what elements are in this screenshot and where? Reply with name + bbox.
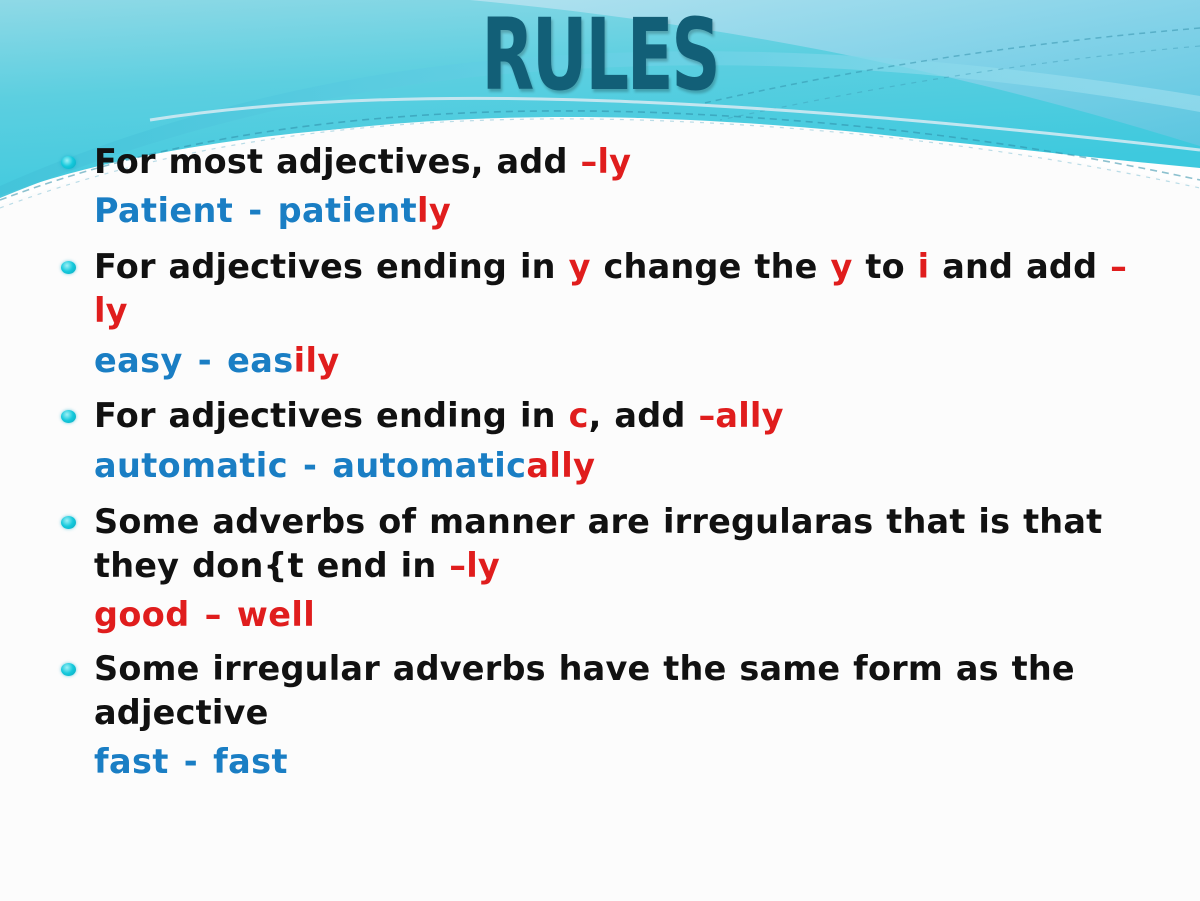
example-segment: good – well [94,595,315,634]
rule-text-segment: Some irregular adverbs have the same for… [94,649,1075,732]
bullet-icon [61,261,76,274]
page-title: RULES [482,6,719,105]
rule-text-segment: For most adjectives, add [94,142,581,181]
rule-text-segment-highlight: –ly [449,546,500,585]
rule-item-irregular-adverbs: Some adverbs of manner are irregularas t… [52,500,1157,639]
example-segment-highlight: ily [294,341,340,380]
rule-text-segment-highlight: i [918,247,930,286]
rule-main-text: For adjectives ending in y change the y … [52,245,1157,333]
rule-example-text: automatic - automatically [52,443,1157,490]
bullet-icon [61,516,76,529]
rule-example-text: good – well [52,592,1157,639]
bullet-icon [61,156,76,169]
rule-text-segment: , add [589,396,699,435]
example-segment-highlight: ally [526,446,595,485]
example-segment: automatic - automatic [94,446,526,485]
slide-canvas: RULES For most adjectives, add –ly Patie… [0,0,1200,901]
rule-text-segment-highlight: c [569,396,589,435]
rule-text-segment: For adjectives ending in [94,247,569,286]
example-segment: Patient - patient [94,191,417,230]
rule-example-text: Patient - patiently [52,188,1157,235]
rule-example-text: easy - easily [52,338,1157,385]
rule-text-segment-highlight: –ally [698,396,783,435]
rule-text-segment-highlight: y [830,247,852,286]
example-segment: fast - fast [94,742,288,781]
rule-main-text: For most adjectives, add –ly [52,140,1157,184]
rule-item-same-form: Some irregular adverbs have the same for… [52,647,1157,786]
rule-main-text: Some irregular adverbs have the same for… [52,647,1157,735]
bullet-icon [61,663,76,676]
rule-item-ending-in-c: For adjectives ending in c, add –ally au… [52,394,1157,489]
rule-item-ending-in-y: For adjectives ending in y change the y … [52,245,1157,384]
bullet-icon [61,410,76,423]
rule-text-segment-highlight: y [569,247,591,286]
rule-text-segment: change the [591,247,831,286]
title-container: RULES [0,6,1200,94]
rule-example-text: fast - fast [52,739,1157,786]
rule-item-most-adjectives: For most adjectives, add –ly Patient - p… [52,140,1157,235]
rule-text-segment: to [853,247,918,286]
rule-text-segment: and add [929,247,1110,286]
rule-text-segment: For adjectives ending in [94,396,569,435]
example-segment: easy - eas [94,341,294,380]
rule-main-text: Some adverbs of manner are irregularas t… [52,500,1157,588]
rule-text-segment-highlight: –ly [581,142,632,181]
rule-main-text: For adjectives ending in c, add –ally [52,394,1157,438]
example-segment-highlight: ly [417,191,451,230]
rule-text-segment: Some adverbs of manner are irregularas t… [94,502,1102,585]
rules-list: For most adjectives, add –ly Patient - p… [52,140,1157,788]
